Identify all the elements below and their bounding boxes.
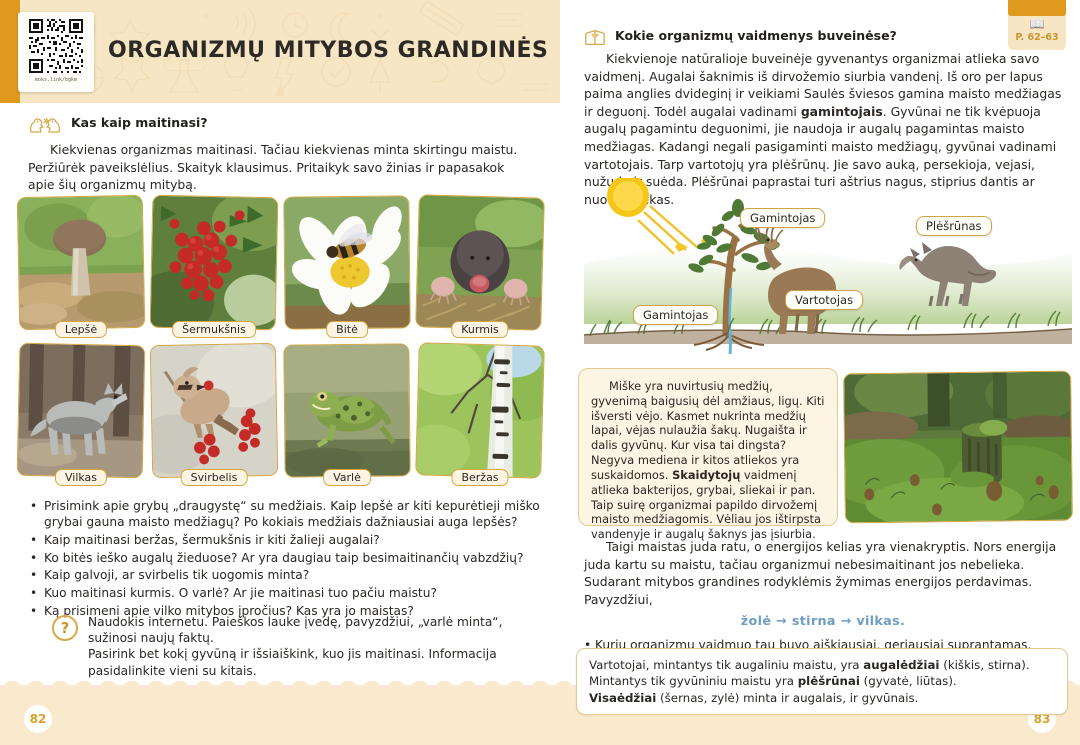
- photo-mushroom[interactable]: [17, 195, 146, 330]
- mushroom-image: [18, 196, 144, 329]
- section-title: Kokie organizmų vaidmenys buveinėse?: [615, 26, 897, 43]
- photo-caption: Varlė: [323, 469, 371, 486]
- left-page: ORGANIZMŲ MITYBOS GRANDINĖS: [0, 0, 560, 690]
- photo-caption: Bitė: [326, 321, 368, 338]
- definition-box: Vartotojai, mintantys tik augaliniu mais…: [576, 648, 1068, 715]
- photo-frog[interactable]: [283, 343, 410, 477]
- photo-grid-row-2: Vilkas: [18, 344, 543, 477]
- left-intro-section: Kas kaip maitinasi? Kiekvienas organizma…: [28, 113, 518, 194]
- frog-image: [284, 344, 409, 476]
- section-heading-kas-kaip-maitinasi: Kas kaip maitinasi?: [28, 113, 518, 135]
- photo-caption: Kurmis: [451, 321, 508, 338]
- photo-item[interactable]: Svirbelis: [151, 344, 277, 477]
- keyword-skaidytoju: Skaidytojų: [672, 468, 740, 482]
- photo-mole[interactable]: [415, 194, 545, 330]
- photo-mossy-stump[interactable]: [843, 371, 1073, 524]
- photo-item[interactable]: Kurmis: [417, 196, 543, 329]
- list-item: Ko bitės ieško augalų žieduose? Ar yra d…: [42, 550, 542, 566]
- right-section-heading: Kokie organizmų vaidmenys buveinėse?: [584, 26, 1024, 48]
- bee-on-flower-image: [284, 196, 409, 328]
- keyword-plesrunai: plėšrūnai: [798, 674, 860, 688]
- food-chain-example: žolė → stirna → vilkas.: [584, 614, 1062, 629]
- diagram-label-gamintojas-grass: Gamintojas: [633, 305, 718, 325]
- photo-caption: Lepšė: [55, 321, 107, 338]
- question-list: Prisimink apie grybų „draugystę“ su medž…: [42, 498, 542, 621]
- question-mark-icon: ?: [52, 615, 78, 641]
- photo-item[interactable]: Varlė: [284, 344, 410, 477]
- qr-code-icon: [27, 17, 85, 75]
- chapter-header-band: ORGANIZMŲ MITYBOS GRANDINĖS: [20, 0, 560, 103]
- spine-bar: [0, 0, 20, 103]
- birch-tree-image: [416, 343, 544, 477]
- list-item: Kaip maitinasi beržas, šermukšnis ir kit…: [42, 532, 542, 548]
- page-title: ORGANIZMŲ MITYBOS GRANDINĖS: [108, 38, 548, 63]
- badge-top-bar: [1008, 0, 1066, 16]
- two-birds-talking-icon: [28, 113, 62, 135]
- photo-item[interactable]: Beržas: [417, 344, 543, 477]
- photo-item[interactable]: Šermukšnis: [151, 196, 277, 329]
- list-item: Prisimink apie grybų „draugystę“ su medž…: [42, 498, 542, 530]
- tip-line-2: Pasirink bet kokį gyvūną ir išsiaiškink,…: [88, 646, 512, 678]
- photo-item[interactable]: Lepšė: [18, 196, 144, 329]
- tip-line-1: Naudokis internetu. Paieškos lauke įvedę…: [88, 614, 512, 646]
- right-page: 📖 P. 62–63 Kokie organizmų vaidmenys buv…: [562, 0, 1080, 690]
- photo-caption: Šermukšnis: [172, 321, 256, 338]
- qr-code-card[interactable]: moks.link/bgkm: [18, 12, 94, 92]
- diagram-label-gamintojas-tree: Gamintojas: [740, 208, 825, 228]
- internet-tip-box: ? Naudokis internetu. Paieškos lauke įve…: [52, 614, 512, 679]
- tip-text: Naudokis internetu. Paieškos lauke įvedę…: [88, 614, 512, 679]
- wolf-image: [18, 344, 145, 478]
- photo-caption: Svirbelis: [181, 469, 248, 486]
- photo-item[interactable]: Bitė: [284, 196, 410, 329]
- textbook-spread: ORGANIZMŲ MITYBOS GRANDINĖS: [0, 0, 1080, 745]
- mole-image: [416, 195, 544, 329]
- photo-rowan-berries[interactable]: [150, 195, 279, 331]
- photo-grid-row-1: Lepšė: [18, 196, 543, 329]
- list-item: Kuo maitinasi kurmis. O varlė? Ar jie ma…: [42, 585, 542, 601]
- diagram-label-vartotojas: Vartotojas: [785, 290, 863, 310]
- list-item: Kaip galvoji, ar svirbelis tik uogomis m…: [42, 567, 542, 583]
- keyword-gamintojais: gamintojais: [801, 104, 883, 119]
- keyword-augaledziai: augalėdžiai: [863, 658, 939, 672]
- decomposer-info-box: Miške yra nuvirtusių medžių, gyvenimą ba…: [578, 368, 838, 526]
- photo-caption: Beržas: [451, 469, 508, 486]
- decomposer-text-part1: Miške yra nuvirtusių medžių, gyvenimą ba…: [591, 379, 824, 482]
- photo-item[interactable]: Vilkas: [18, 344, 144, 477]
- rowan-berries-image: [151, 196, 278, 330]
- photo-waxwing-bird[interactable]: [150, 343, 279, 478]
- page-number-left: 82: [24, 705, 52, 733]
- definition-line-2: Mintantys tik gyvūniniu maistu yra plėšr…: [589, 673, 1055, 689]
- definition-line-3: Visaėdžiai (šernas, zylė) minta ir augal…: [589, 690, 1055, 706]
- photo-birch-tree[interactable]: [415, 342, 545, 478]
- photo-wolf[interactable]: [17, 343, 146, 479]
- waxwing-bird-image: [151, 344, 277, 477]
- photo-bee-on-flower[interactable]: [283, 195, 410, 329]
- open-book-icon: [584, 26, 606, 48]
- ecosystem-roles-illustration: Gamintojas Plėšrūnas Vartotojas Gamintoj…: [578, 178, 1078, 363]
- keyword-visaedziai: Visaėdžiai: [589, 691, 656, 705]
- qr-code-label: moks.link/bgkm: [35, 77, 77, 83]
- mossy-tree-stump-image: [844, 372, 1072, 523]
- intro-paragraph: Kiekvienas organizmas maitinasi. Tačiau …: [28, 141, 518, 194]
- diagram-label-plesrunas: Plėšrūnas: [916, 216, 992, 236]
- section-title: Kas kaip maitinasi?: [71, 113, 208, 130]
- definition-line-1: Vartotojai, mintantys tik augaliniu mais…: [589, 657, 1055, 673]
- ecosystem-diagram-drawing: [578, 178, 1078, 363]
- closing-paragraph: Taigi maistas juda ratu, o energijos kel…: [584, 538, 1062, 608]
- photo-caption: Vilkas: [55, 469, 107, 486]
